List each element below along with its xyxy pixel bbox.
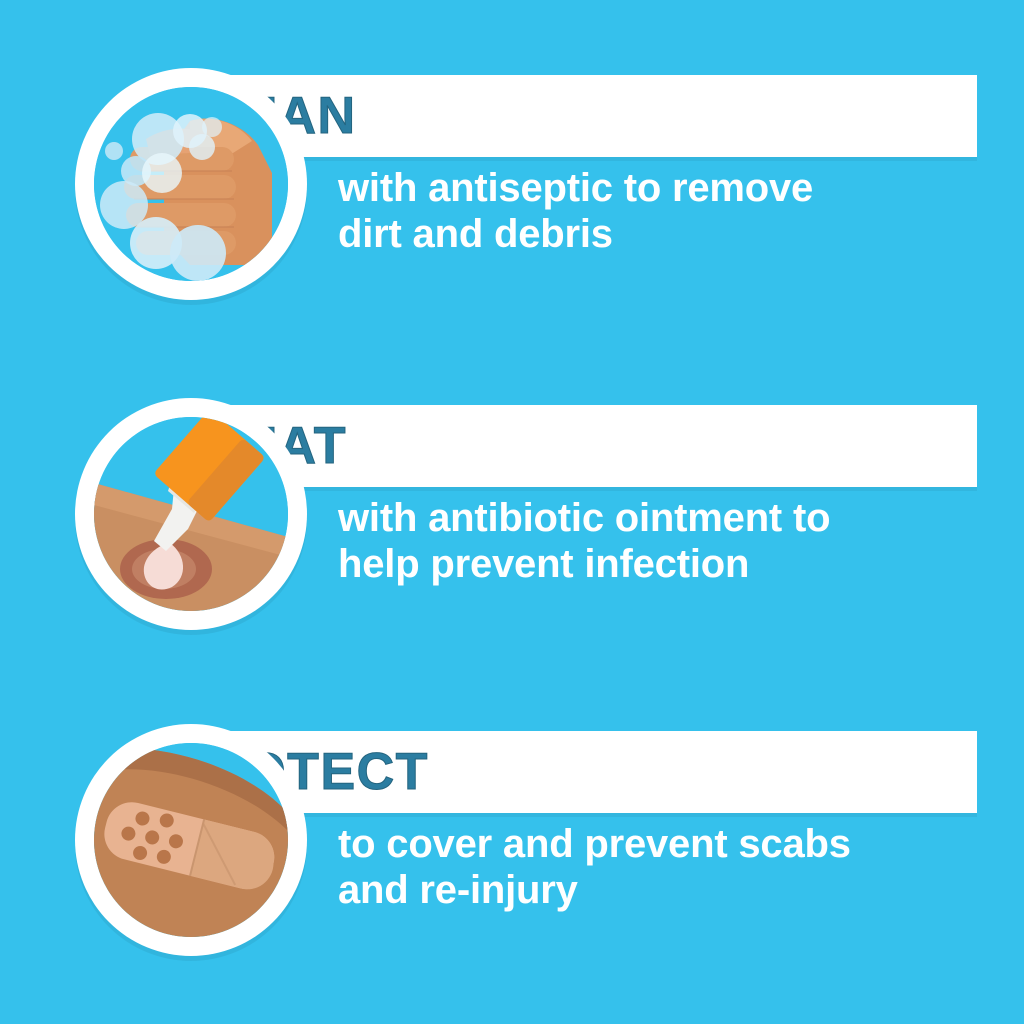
step-body-protect: to cover and prevent scabs and re-injury <box>338 821 988 913</box>
step-body-line-2: and re-injury <box>338 867 988 913</box>
hand-washing-with-soap-icon <box>94 87 288 281</box>
step-body-line-2: dirt and debris <box>338 211 988 257</box>
step-icon-clean <box>75 68 307 300</box>
step-body-line-2: help prevent infection <box>338 541 988 587</box>
step-body-clean: with antiseptic to remove dirt and debri… <box>338 165 988 257</box>
step-body-treat: with antibiotic ointment to help prevent… <box>338 495 988 587</box>
icon-art-area <box>94 743 288 937</box>
ointment-tube-on-wound-icon <box>94 417 288 611</box>
step-body-line-1: with antiseptic to remove <box>338 165 988 211</box>
step-body-line-1: to cover and prevent scabs <box>338 821 988 867</box>
step-body-line-1: with antibiotic ointment to <box>338 495 988 541</box>
icon-art-area <box>94 417 288 611</box>
icon-art-area <box>94 87 288 281</box>
step-icon-protect <box>75 724 307 956</box>
adhesive-bandage-on-skin-icon <box>94 743 288 937</box>
infographic-canvas: CLEAN with antiseptic to remove dirt and… <box>0 0 1024 1024</box>
step-icon-treat <box>75 398 307 630</box>
